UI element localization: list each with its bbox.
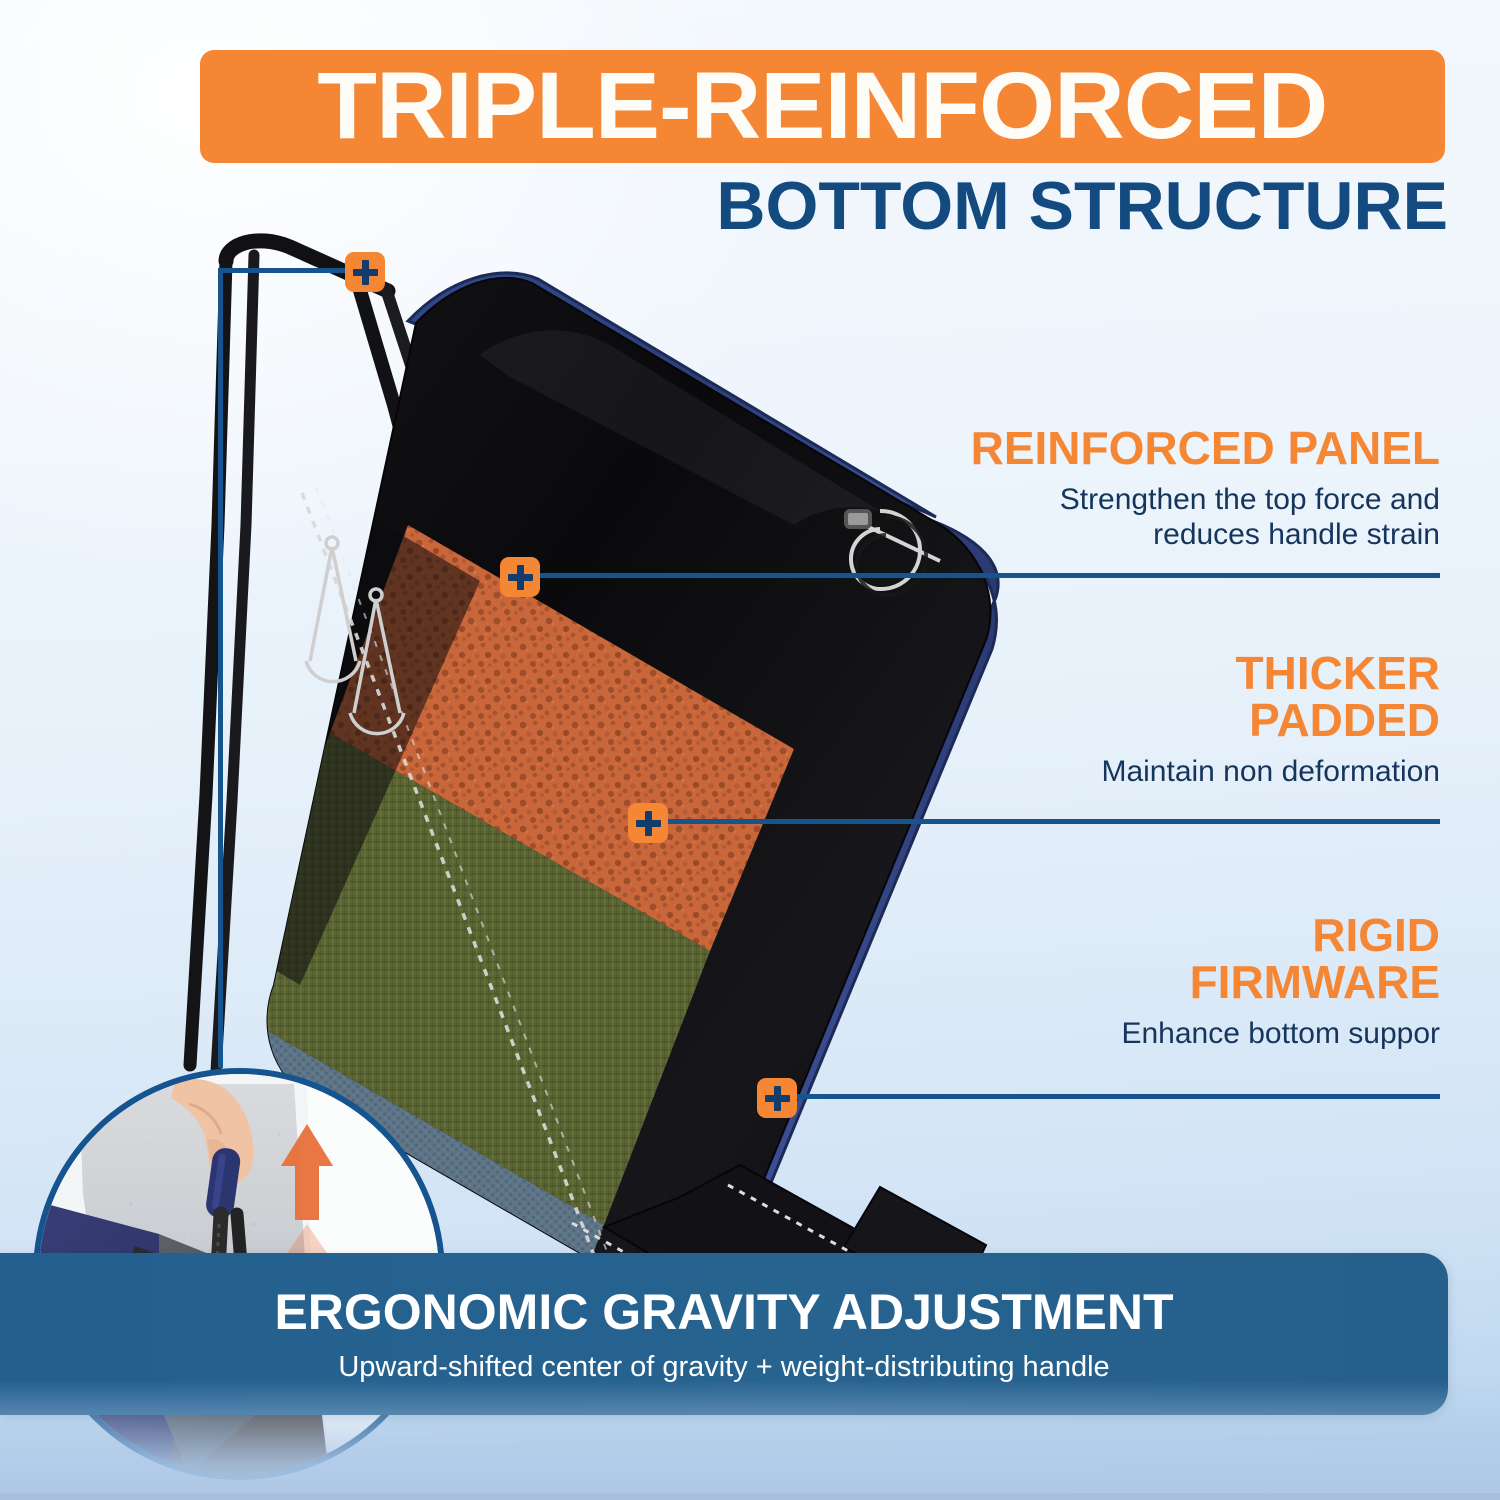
- feature-title: RIGIDFIRMWARE: [920, 912, 1440, 1006]
- feature-title: REINFORCED PANEL: [920, 425, 1440, 472]
- bottom-fade: [0, 1380, 1500, 1500]
- feature-description: Maintain non deformation: [920, 754, 1440, 789]
- connector-handle-vertical: [218, 268, 223, 1068]
- feature-description: Strengthen the top force andreduces hand…: [920, 482, 1440, 553]
- feature-reinforced-panel: REINFORCED PANEL Strengthen the top forc…: [920, 425, 1440, 553]
- feature-thicker-padded: THICKERPADDED Maintain non deformation: [920, 650, 1440, 789]
- connector-handle-horizontal: [218, 268, 363, 273]
- connector-rigid-firmware: [792, 1094, 1440, 1099]
- plus-horizontal-bar: [508, 574, 533, 581]
- plus-badge-thicker-padded-icon[interactable]: [628, 803, 668, 843]
- bottom-edge-line: [0, 1493, 1500, 1500]
- feature-description: Enhance bottom suppor: [920, 1016, 1440, 1051]
- plus-badge-reinforced-panel-icon[interactable]: [500, 557, 540, 597]
- plus-horizontal-bar: [353, 269, 378, 276]
- connector-reinforced-panel: [535, 573, 1440, 578]
- plus-badge-handle-icon[interactable]: [345, 252, 385, 292]
- feature-title: THICKERPADDED: [920, 650, 1440, 744]
- bottom-banner-subtitle: Upward-shifted center of gravity + weigh…: [338, 1353, 1109, 1382]
- headline-text: TRIPLE-REINFORCED: [318, 59, 1328, 154]
- plus-badge-rigid-firmware-icon[interactable]: [757, 1078, 797, 1118]
- feature-rigid-firmware: RIGIDFIRMWARE Enhance bottom suppor: [920, 912, 1440, 1051]
- bottom-banner-title: ERGONOMIC GRAVITY ADJUSTMENT: [274, 1287, 1173, 1337]
- plus-horizontal-bar: [636, 820, 661, 827]
- connector-thicker-padded: [663, 819, 1440, 824]
- plus-horizontal-bar: [765, 1095, 790, 1102]
- infographic-canvas: TRIPLE-REINFORCED BOTTOM STRUCTURE: [0, 0, 1500, 1500]
- headline-banner: TRIPLE-REINFORCED: [200, 50, 1445, 163]
